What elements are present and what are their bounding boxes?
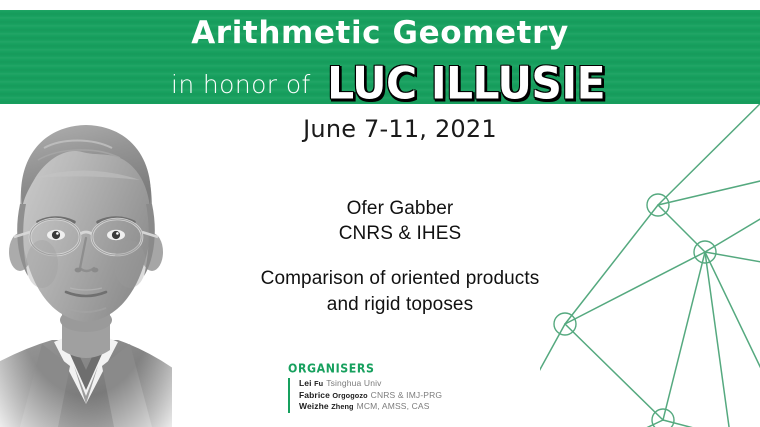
talk-title: Comparison of oriented products and rigi…: [165, 266, 635, 318]
header-banner: Arithmetic Geometry in honor of LUC ILLU…: [0, 10, 760, 104]
graph-node: [652, 409, 674, 427]
organisers-block: ORGANISERS Lei FuTsinghua Univ Fabrice O…: [288, 361, 548, 413]
conference-title: Arithmetic Geometry: [0, 15, 760, 51]
honoree-name: LUC ILLUSIE: [325, 62, 605, 104]
talk-title-line-2: and rigid toposes: [165, 292, 635, 318]
organiser-name: Weizhe Zheng: [299, 401, 354, 411]
organisers-heading: ORGANISERS: [288, 361, 548, 376]
event-dates: June 7-11, 2021: [160, 115, 640, 143]
organiser-row: Lei FuTsinghua Univ: [299, 378, 548, 390]
talk-info-block: Ofer Gabber CNRS & IHES Comparison of or…: [165, 196, 635, 318]
honoree-line: in honor of LUC ILLUSIE: [0, 60, 760, 104]
conference-poster: Arithmetic Geometry in honor of LUC ILLU…: [0, 0, 760, 427]
graph-node: [694, 241, 716, 263]
organiser-affiliation: MCM, AMSS, CAS: [357, 401, 430, 411]
graph-node: [647, 194, 669, 216]
in-honor-of-label: in honor of: [171, 70, 311, 99]
talk-title-line-1: Comparison of oriented products: [165, 266, 635, 292]
organiser-row: Weizhe ZhengMCM, AMSS, CAS: [299, 401, 548, 413]
organiser-affiliation: Tsinghua Univ: [326, 378, 381, 388]
organisers-list: Lei FuTsinghua Univ Fabrice OrgogozoCNRS…: [288, 378, 548, 413]
organiser-name: Lei Fu: [299, 378, 323, 388]
organiser-name: Fabrice Orgogozo: [299, 390, 368, 400]
speaker-name: Ofer Gabber: [165, 196, 635, 221]
speaker-affiliation: CNRS & IHES: [165, 221, 635, 246]
speaker-portrait-photo: [0, 104, 172, 427]
organiser-affiliation: CNRS & IMJ-PRG: [371, 390, 443, 400]
organiser-row: Fabrice OrgogozoCNRS & IMJ-PRG: [299, 390, 548, 402]
portrait-image: [0, 104, 172, 427]
